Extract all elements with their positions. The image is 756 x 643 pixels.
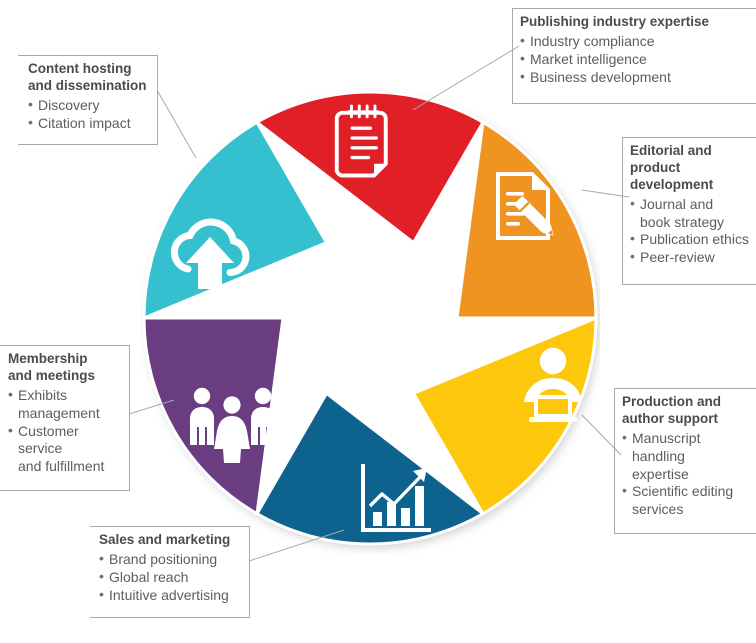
list-item: Scientific editing services (622, 483, 756, 519)
callout-membership: Membership and meetings Exhibits managem… (8, 351, 128, 476)
callout-title-content-hosting: Content hosting and dissemination (28, 61, 156, 95)
callout-editorial: Editorial and product development Journa… (630, 143, 756, 267)
callout-bullets-production: Manuscript handling expertise Scientific… (622, 430, 756, 520)
callout-title-publishing: Publishing industry expertise (520, 14, 752, 31)
list-item: Global reach (99, 569, 249, 587)
callout-publishing: Publishing industry expertise Industry c… (520, 14, 752, 87)
callout-bullets-sales: Brand positioning Global reach Intuitive… (99, 551, 249, 605)
list-item: Manuscript handling expertise (622, 430, 756, 484)
callout-content-hosting: Content hosting and dissemination Discov… (28, 61, 156, 133)
callout-bullets-editorial: Journal and book strategy Publication et… (630, 196, 756, 268)
callout-title-sales: Sales and marketing (99, 532, 249, 549)
callout-title-production: Production and author support (622, 394, 756, 428)
callout-production: Production and author support Manuscript… (622, 394, 756, 519)
list-item: Brand positioning (99, 551, 249, 569)
list-item: Industry compliance (520, 33, 752, 51)
callout-bullets-membership: Exhibits management Customer service and… (8, 387, 128, 477)
callout-title-membership: Membership and meetings (8, 351, 128, 385)
callout-sales: Sales and marketing Brand positioning Gl… (99, 532, 249, 605)
wheel-segment-editorial[interactable] (457, 122, 596, 318)
diagram-canvas: Publishing industry expertise Industry c… (0, 0, 756, 643)
list-item: Publication ethics (630, 231, 756, 249)
list-item: Market intelligence (520, 51, 752, 69)
list-item: Intuitive advertising (99, 587, 249, 605)
callout-bullets-publishing: Industry compliance Market intelligence … (520, 33, 752, 87)
list-item: Business development (520, 69, 752, 87)
list-item: Citation impact (28, 115, 156, 133)
callout-title-editorial: Editorial and product development (630, 143, 756, 194)
list-item: Discovery (28, 97, 156, 115)
callout-bullets-content-hosting: Discovery Citation impact (28, 97, 156, 133)
list-item: Journal and book strategy (630, 196, 756, 232)
services-wheel (140, 85, 600, 555)
list-item: Exhibits management (8, 387, 128, 423)
list-item: Peer-review (630, 249, 756, 267)
list-item: Customer service and fulfillment (8, 423, 128, 477)
